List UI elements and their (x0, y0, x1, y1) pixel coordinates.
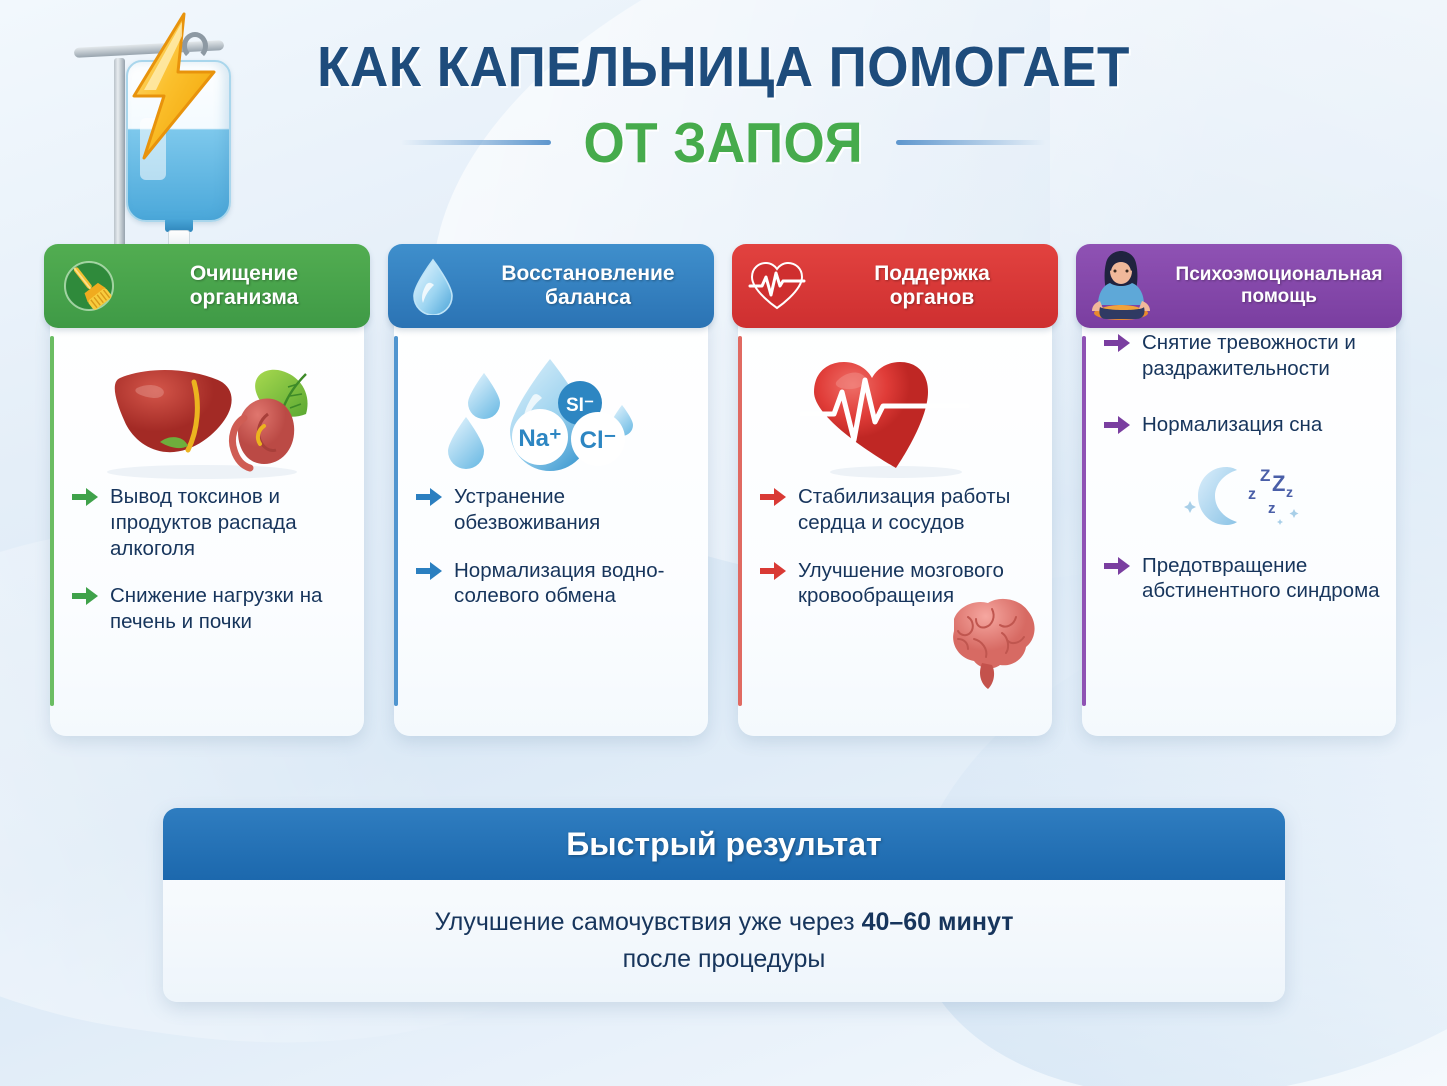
list-item-label: Вывод токсинов и ıпродуктов распада алко… (110, 484, 350, 561)
card-balance-title: Восстановлениебаланса (476, 262, 700, 311)
card-balance[interactable]: Восстановлениебаланса (388, 244, 714, 736)
banner-title: Быстрый результат (566, 826, 881, 863)
arrow-right-icon (416, 488, 442, 511)
list-item-label: Предотвращение абстинентного синдрома (1142, 553, 1382, 605)
lightning-bolt-icon (118, 10, 226, 167)
card-cleansing[interactable]: Очищениеорганизма (44, 244, 370, 736)
benefit-cards-row: Очищениеорганизма (44, 244, 1408, 736)
list-item-label: Устранение обезвоживания (454, 484, 694, 536)
title-divider-left (401, 140, 551, 145)
card-psycho-bullets: Снятие тревожности и раздражительности Н… (1096, 330, 1382, 604)
list-item-label: Снятие тревожности и раздражительности (1142, 330, 1382, 382)
banner-highlight: 40–60 минут (862, 908, 1014, 936)
card-balance-body: SI⁻ Na⁺ Cl⁻ Устранение обезвоживания (394, 306, 708, 736)
card-organs-bullets: Стабилизация работы сердца и сосудов Улу… (752, 484, 1038, 609)
banner-body: Улучшение самочувствия уже через 40–60 м… (163, 880, 1285, 974)
liver-kidney-leaf-illustration (64, 352, 350, 484)
arrow-right-icon (1104, 334, 1130, 357)
list-item: Устранение обезвоживания (416, 484, 694, 536)
ion-label-si: SI⁻ (566, 395, 594, 416)
water-drop-icon (402, 255, 464, 317)
arrow-right-icon (1104, 416, 1130, 439)
list-item: Стабилизация работы сердца и сосудов (760, 484, 1038, 536)
banner-header: Быстрый результат (163, 808, 1285, 880)
list-item-label: Нормализация водно-солевого обмена (454, 558, 694, 610)
banner-text-line-2: после процедуры (203, 945, 1245, 974)
arrow-right-icon (72, 488, 98, 511)
card-balance-bullets: Устранение обезвоживания Нормализация во… (408, 484, 694, 609)
card-cleansing-bullets: Вывод токсинов и ıпродуктов распада алко… (64, 484, 350, 635)
card-psycho[interactable]: Психоэмоциональнаяпомощь Снятие тревожно… (1076, 244, 1402, 736)
card-psycho-title: Психоэмоциональнаяпомощь (1170, 264, 1388, 308)
infographic-canvas: КАК КАПЕЛЬНИЦА ПОМОГАЕТ ОТ ЗАПОЯ (0, 0, 1447, 1086)
svg-text:Z: Z (1272, 471, 1285, 496)
fast-result-banner[interactable]: Быстрый результат Улучшение самочувствия… (163, 808, 1285, 1002)
list-item: Нормализация сна (1104, 412, 1382, 439)
arrow-right-icon (760, 488, 786, 511)
svg-text:z: z (1248, 486, 1256, 503)
card-psycho-body: Снятие тревожности и раздражительности Н… (1082, 306, 1396, 736)
arrow-right-icon (760, 562, 786, 585)
list-item: Снижение нагрузки на печень и почки (72, 583, 350, 635)
card-organs-header: Поддержкаорганов (732, 244, 1058, 328)
list-item-label: Снижение нагрузки на печень и почки (110, 583, 350, 635)
broom-icon (58, 255, 120, 317)
svg-text:z: z (1268, 500, 1276, 517)
title-divider-right (896, 140, 1046, 145)
banner-text-line-1: Улучшение самочувствия уже через 40–60 м… (203, 906, 1245, 939)
card-cleansing-header: Очищениеорганизма (44, 244, 370, 328)
title-line-1: КАК КАПЕЛЬНИЦА ПОМОГАЕТ (51, 38, 1397, 98)
list-item-label: Стабилизация работы сердца и сосудов (798, 484, 1038, 536)
card-cleansing-body: Вывод токсинов и ıпродуктов распада алко… (50, 306, 364, 736)
arrow-right-icon (1104, 557, 1130, 580)
list-item: Предотвращение абстинентного синдрома (1104, 553, 1382, 605)
card-organs[interactable]: Поддержкаорганов (732, 244, 1058, 736)
meditating-woman-icon (1084, 255, 1158, 317)
svg-text:Z: Z (1260, 466, 1270, 485)
arrow-right-icon (72, 587, 98, 610)
heart-pulse-icon (746, 255, 808, 317)
list-item: Снятие тревожности и раздражительности (1104, 330, 1382, 382)
card-organs-title: Поддержкаорганов (820, 262, 1044, 311)
heart-ecg-illustration (752, 352, 1038, 484)
brain-illustration (930, 595, 1048, 696)
list-item-label: Нормализация сна (1142, 412, 1322, 438)
svg-text:z: z (1286, 484, 1293, 500)
card-organs-body: Стабилизация работы сердца и сосудов Улу… (738, 306, 1052, 736)
list-item: Вывод токсинов и ıпродуктов распада алко… (72, 484, 350, 561)
list-item: Нормализация водно-солевого обмена (416, 558, 694, 610)
card-cleansing-title: Очищениеорганизма (132, 262, 356, 311)
card-psycho-header: Психоэмоциональнаяпомощь (1076, 244, 1402, 328)
electrolyte-drops-illustration: SI⁻ Na⁺ Cl⁻ (408, 352, 694, 484)
arrow-right-icon (416, 562, 442, 585)
ion-label-cl: Cl⁻ (580, 427, 617, 454)
moon-sleep-zzz-illustration: Z Z z z z (1104, 457, 1382, 531)
card-balance-header: Восстановлениебаланса (388, 244, 714, 328)
ion-label-na: Na⁺ (518, 425, 561, 452)
title-line-2: ОТ ЗАПОЯ (584, 110, 864, 176)
